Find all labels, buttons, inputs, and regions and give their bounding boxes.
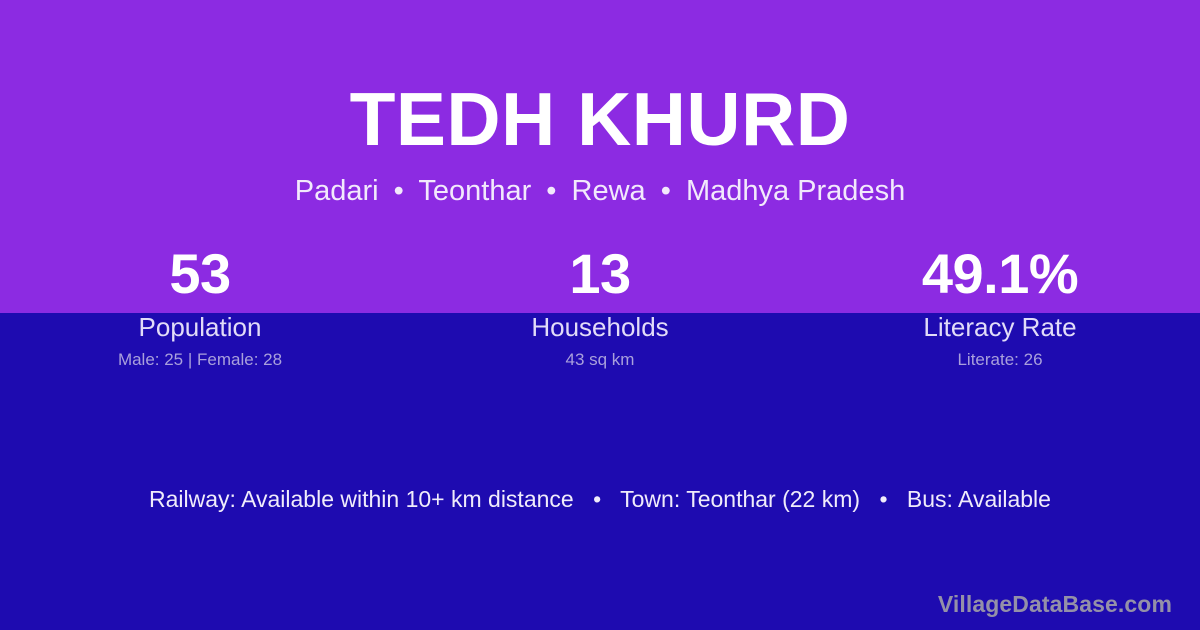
info-bus: Bus: Available [907, 486, 1051, 512]
breadcrumb-state: Madhya Pradesh [686, 175, 905, 207]
stat-label: Population [0, 312, 400, 342]
breadcrumb-separator-icon: • [539, 177, 563, 206]
stat-label: Literacy Rate [800, 312, 1200, 342]
breadcrumb-block: Teonthar [418, 175, 531, 207]
stat-households: 13 Households 43 sq km [400, 243, 800, 370]
village-info-card: TEDH KHURD Padari • Teonthar • Rewa • Ma… [0, 0, 1200, 630]
stat-value: 49.1% [800, 243, 1200, 305]
breadcrumb-separator-icon: • [654, 177, 678, 206]
breadcrumb-separator-icon: • [387, 177, 411, 206]
breadcrumb-district: Rewa [572, 175, 646, 207]
info-railway: Railway: Available within 10+ km distanc… [149, 486, 574, 512]
stats-row: 53 Population Male: 25 | Female: 28 13 H… [0, 243, 1200, 370]
stat-sublabel: Literate: 26 [800, 350, 1200, 370]
info-separator-icon: • [866, 484, 900, 514]
card-header: TEDH KHURD Padari • Teonthar • Rewa • Ma… [0, 0, 1200, 206]
info-town: Town: Teonthar (22 km) [620, 486, 860, 512]
stat-population: 53 Population Male: 25 | Female: 28 [0, 243, 400, 370]
site-watermark: VillageDataBase.com [938, 590, 1172, 618]
breadcrumb: Padari • Teonthar • Rewa • Madhya Prades… [0, 157, 1200, 206]
stat-sublabel: Male: 25 | Female: 28 [0, 350, 400, 370]
breadcrumb-panchayat: Padari [295, 175, 379, 207]
amenities-info-line: Railway: Available within 10+ km distanc… [0, 484, 1200, 514]
stat-sublabel: 43 sq km [400, 350, 800, 370]
info-separator-icon: • [580, 484, 614, 514]
stat-value: 13 [400, 243, 800, 305]
stat-literacy-rate: 49.1% Literacy Rate Literate: 26 [800, 243, 1200, 370]
stat-label: Households [400, 312, 800, 342]
stat-value: 53 [0, 243, 400, 305]
page-title: TEDH KHURD [0, 0, 1200, 157]
